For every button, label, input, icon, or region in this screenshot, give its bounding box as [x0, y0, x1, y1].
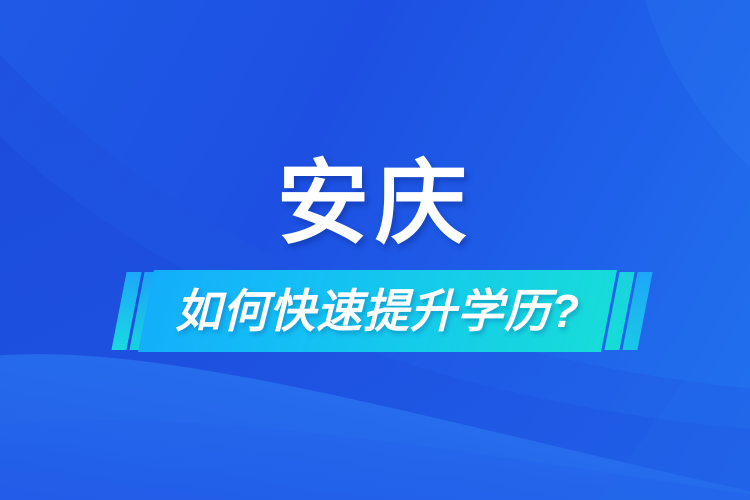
promo-banner: 安庆 如何快速提升学历? [0, 0, 750, 500]
subtitle: 如何快速提升学历? [175, 288, 580, 334]
curve-shape-lower [0, 354, 750, 500]
subtitle-text-layer: 如何快速提升学历? [146, 270, 609, 352]
curve-shape-lower-soft [0, 420, 750, 500]
page-title: 安庆 [277, 158, 473, 250]
subtitle-ribbon-container: 如何快速提升学历? [0, 266, 750, 356]
curve-shape-upper [0, 10, 750, 500]
title-container: 安庆 [0, 158, 750, 250]
